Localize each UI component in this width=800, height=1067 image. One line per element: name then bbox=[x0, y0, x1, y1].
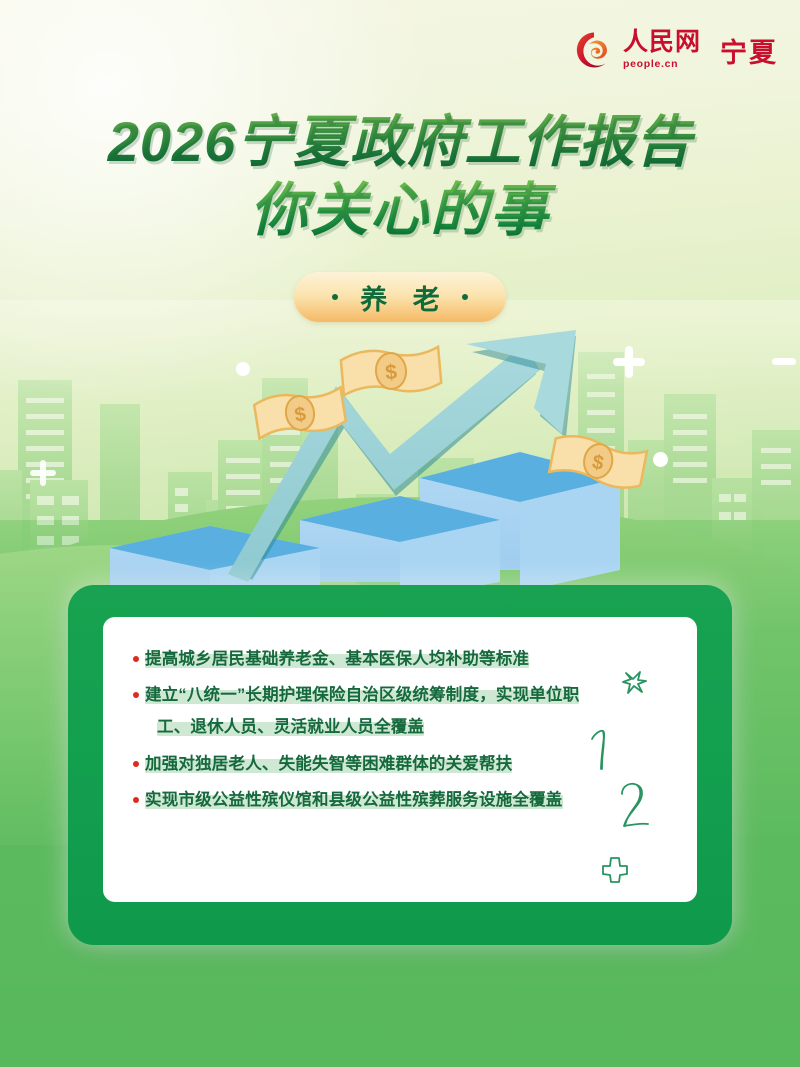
main-title-line-2: 你关心的事 bbox=[0, 180, 800, 243]
bullet-dot-icon bbox=[133, 692, 139, 698]
bullet-dot-icon bbox=[133, 761, 139, 767]
number-two-doodle-icon bbox=[615, 780, 655, 836]
sparkle-star-doodle-icon bbox=[620, 667, 650, 697]
site-logo[interactable]: 人民网 people.cn 宁夏 bbox=[574, 30, 778, 70]
list-item: 提高城乡居民基础养老金、基本医保人均补助等标准 bbox=[133, 643, 673, 675]
banknote-top: $ bbox=[336, 337, 447, 404]
logo-region-label: 宁夏 bbox=[720, 31, 778, 70]
svg-text:$: $ bbox=[384, 361, 398, 385]
badge-dot-right bbox=[462, 294, 468, 300]
logo-english-domain: people.cn bbox=[623, 59, 701, 70]
growth-illustration: $ $ $ bbox=[0, 330, 800, 600]
bullet-text: 提高城乡居民基础养老金、基本医保人均补助等标准 bbox=[145, 643, 529, 675]
bullet-dot-icon bbox=[133, 797, 139, 803]
people-cn-swirl-icon bbox=[574, 30, 614, 70]
bullet-text: 实现市级公益性殡仪馆和县级公益性殡葬服务设施全覆盖 bbox=[145, 784, 563, 816]
badge-dot-left bbox=[332, 294, 338, 300]
bullet-text-continued: 工、退休人员、灵活就业人员全覆盖 bbox=[157, 718, 424, 736]
main-title-line-1: 2026宁夏政府工作报告 bbox=[0, 112, 800, 172]
logo-chinese-name: 人民网 bbox=[623, 30, 701, 55]
content-card-inner-panel: 提高城乡居民基础养老金、基本医保人均补助等标准 建立“八统一”长期护理保险自治区… bbox=[103, 617, 697, 902]
logo-text-block: 人民网 people.cn bbox=[623, 30, 701, 70]
plus-cross-doodle-icon bbox=[600, 855, 630, 885]
number-one-doodle-icon bbox=[586, 727, 616, 773]
topic-badge: 养 老 bbox=[294, 272, 506, 322]
content-card: 提高城乡居民基础养老金、基本医保人均补助等标准 建立“八统一”长期护理保险自治区… bbox=[68, 585, 732, 945]
poster-root: 人民网 people.cn 宁夏 2026宁夏政府工作报告 你关心的事 养 老 bbox=[0, 0, 800, 1067]
badge-label: 养 老 bbox=[351, 278, 449, 317]
title-block: 2026宁夏政府工作报告 你关心的事 bbox=[0, 112, 800, 243]
list-item: 实现市级公益性殡仪馆和县级公益性殡葬服务设施全覆盖 bbox=[133, 784, 673, 816]
bullet-text: 建立“八统一”长期护理保险自治区级统筹制度，实现单位职 bbox=[145, 686, 579, 704]
bullet-text: 加强对独居老人、失能失智等困难群体的关爱帮扶 bbox=[145, 748, 512, 780]
bullet-dot-icon bbox=[133, 656, 139, 662]
